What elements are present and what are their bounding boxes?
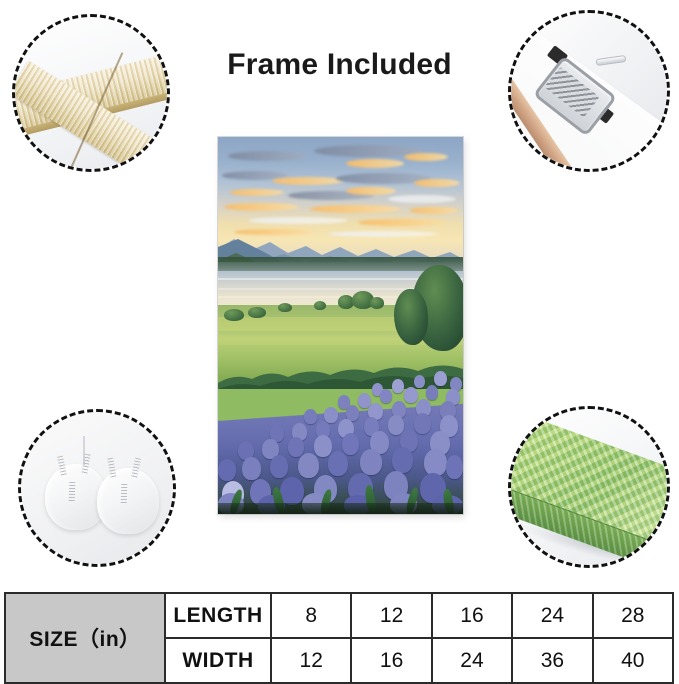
painting-foreground-shadow [218,503,463,514]
size-header-cell: SIZE（in） [5,593,165,683]
width-value-4: 36 [512,638,592,683]
canvas-edge-image [511,409,667,565]
frame-corner-detail-inset [12,14,170,172]
width-value-2: 16 [351,638,431,683]
row-label-width: WIDTH [165,638,271,683]
length-value-2: 12 [351,593,431,638]
length-value-5: 28 [593,593,673,638]
table-row: SIZE（in） LENGTH 8 12 16 24 28 [5,593,673,638]
width-value-1: 12 [271,638,351,683]
sawtooth-hanger-detail-inset [508,10,670,172]
mounting-screws-detail-inset [18,409,176,567]
length-value-1: 8 [271,593,351,638]
artwork-canvas [218,137,463,514]
width-value-5: 40 [593,638,673,683]
sawtooth-hanger-image [511,13,667,169]
row-label-length: LENGTH [165,593,271,638]
frame-corner-image [15,17,167,169]
mounting-screws-image [21,412,173,564]
length-value-4: 24 [512,593,592,638]
canvas-edge-detail-inset [508,406,670,568]
length-value-3: 16 [432,593,512,638]
size-chart: SIZE（in） LENGTH 8 12 16 24 28 WIDTH 12 1… [4,592,674,684]
width-value-3: 24 [432,638,512,683]
